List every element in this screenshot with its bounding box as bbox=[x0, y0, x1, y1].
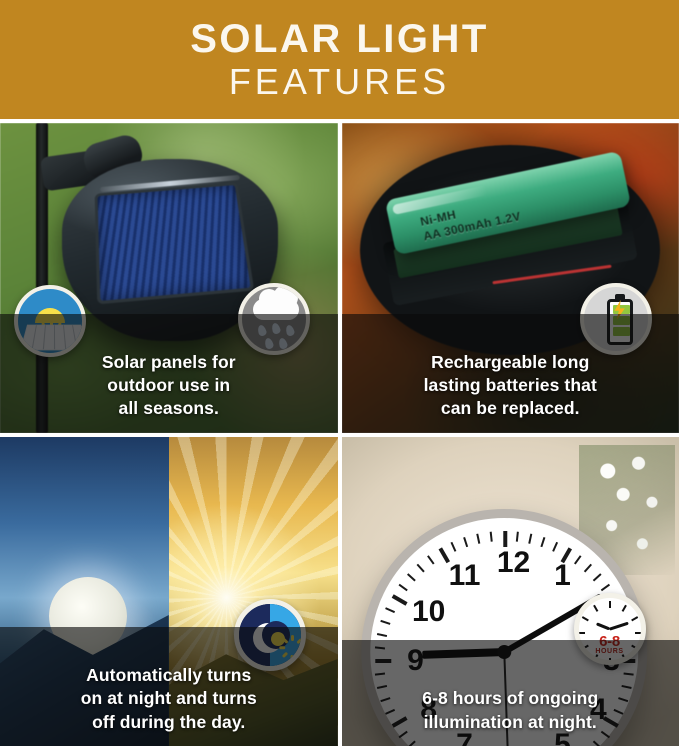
badge-clock-tick bbox=[581, 616, 588, 621]
feature-grid: Solar panels for outdoor use in all seas… bbox=[0, 123, 679, 746]
page-subtitle: FEATURES bbox=[229, 62, 450, 102]
clock-tick bbox=[552, 541, 558, 551]
clock-tick bbox=[504, 531, 508, 547]
clock-tick bbox=[407, 573, 416, 581]
badge-clock-tick bbox=[609, 601, 611, 608]
clock-numeral: 11 bbox=[449, 559, 481, 593]
page-title: SOLAR LIGHT bbox=[190, 18, 489, 60]
clock-numeral: 12 bbox=[497, 546, 530, 580]
clock-tick bbox=[381, 619, 391, 624]
feature-panel-runtime-hours: 121234567891011 6-8 HOURS 6-8 hours of o… bbox=[342, 437, 679, 746]
clock-numeral: 10 bbox=[412, 595, 445, 629]
clock-tick bbox=[529, 533, 533, 543]
caption-band-auto-day-night: Automatically turns on at night and turn… bbox=[0, 627, 338, 746]
clock-tick bbox=[601, 583, 610, 590]
clock-tick bbox=[593, 573, 602, 581]
caption-text: 6-8 hours of ongoing illumination at nig… bbox=[422, 687, 598, 734]
clock-tick bbox=[417, 563, 425, 572]
feature-panel-auto-day-night: Automatically turns on at night and turn… bbox=[0, 437, 338, 746]
caption-band-runtime-hours: 6-8 hours of ongoing illumination at nig… bbox=[342, 640, 679, 746]
caption-text: Rechargeable long lasting batteries that… bbox=[424, 351, 597, 421]
clock-tick bbox=[574, 555, 581, 564]
clock-tick bbox=[377, 632, 387, 636]
clock-tick bbox=[584, 563, 592, 572]
clock-tick bbox=[463, 537, 468, 547]
caption-band-solar-panels: Solar panels for outdoor use in all seas… bbox=[0, 314, 338, 433]
clock-tick bbox=[516, 531, 519, 541]
header-banner: SOLAR LIGHT FEATURES bbox=[0, 0, 679, 119]
feature-panel-rechargeable-batteries: Ni-MH AA 300mAh 1.2V Rechargeable long l… bbox=[342, 123, 679, 433]
clock-tick bbox=[541, 537, 546, 547]
clock-tick bbox=[490, 531, 493, 541]
caption-text: Solar panels for outdoor use in all seas… bbox=[102, 351, 236, 421]
clock-tick bbox=[451, 541, 457, 551]
caption-band-rechargeable-batteries: Rechargeable long lasting batteries that… bbox=[342, 314, 679, 433]
badge-clock-tick bbox=[631, 616, 638, 621]
feature-panel-solar-panels: Solar panels for outdoor use in all seas… bbox=[0, 123, 338, 433]
clock-tick bbox=[392, 594, 408, 605]
badge-clock-tick bbox=[593, 604, 598, 611]
caption-text: Automatically turns on at night and turn… bbox=[81, 664, 257, 734]
clock-tick bbox=[385, 607, 395, 613]
photovoltaic-panel-shape bbox=[95, 182, 255, 304]
clock-tick bbox=[399, 583, 408, 590]
clock-numeral: 1 bbox=[554, 559, 571, 593]
clock-tick bbox=[477, 533, 481, 543]
infographic-page: SOLAR LIGHT FEATURES bbox=[0, 0, 679, 746]
badge-clock-tick bbox=[621, 604, 626, 611]
clock-tick bbox=[427, 555, 434, 564]
